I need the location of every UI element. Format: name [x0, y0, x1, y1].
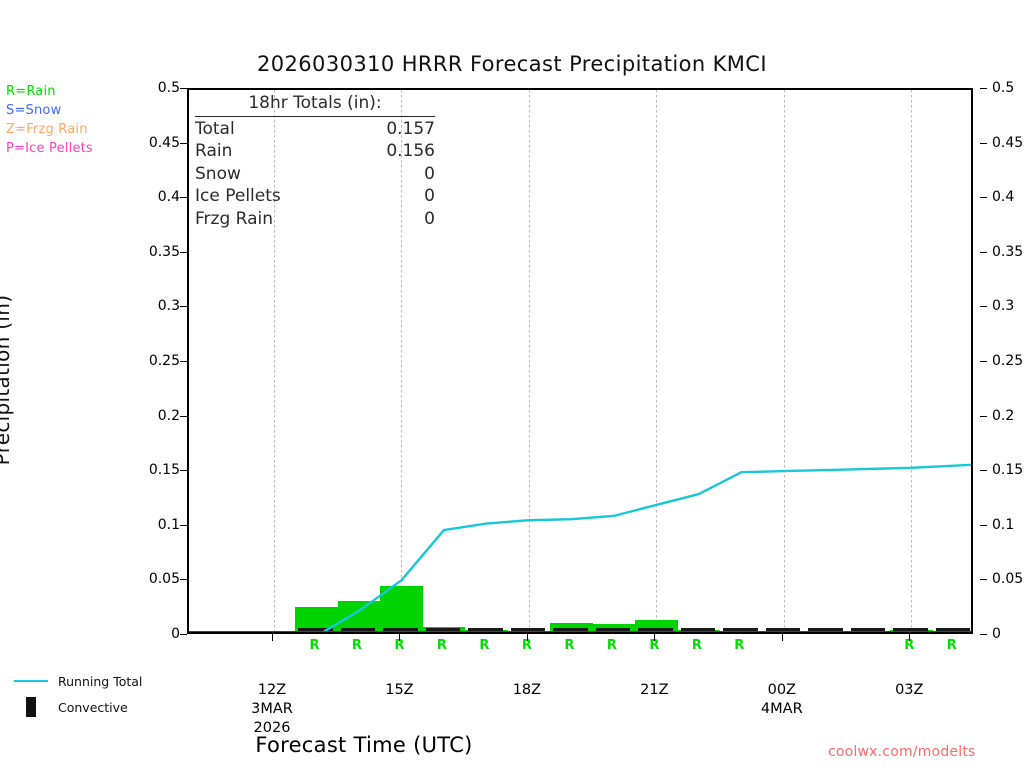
- y-tick-label: 0.4: [128, 189, 180, 205]
- y-tick-label: 0.2: [128, 408, 180, 424]
- y-tick-label: 0.05: [992, 571, 1023, 587]
- totals-label: Ice Pellets: [195, 185, 281, 208]
- y-tick-mark: [180, 143, 187, 144]
- y-tick-mark: [980, 197, 987, 198]
- totals-row: Ice Pellets0: [195, 185, 435, 208]
- x-tick-label: 00Z: [737, 682, 827, 698]
- y-axis-labels-left: 00.050.10.150.20.250.30.350.40.450.5: [120, 0, 180, 768]
- y-tick-label: 0.35: [128, 244, 180, 260]
- y-tick-label: 0.5: [992, 80, 1014, 96]
- totals-row: Snow0: [195, 163, 435, 186]
- x-tick-mark: [527, 634, 528, 641]
- totals-label: Rain: [195, 140, 232, 163]
- x-tick-label: 03Z: [864, 682, 954, 698]
- y-tick-mark: [980, 470, 987, 471]
- y-tick-label: 0.25: [128, 353, 180, 369]
- y-tick-label: 0.35: [992, 244, 1023, 260]
- y-tick-label: 0.05: [128, 571, 180, 587]
- watermark: coolwx.com/modelts: [828, 744, 976, 760]
- y-tick-mark: [180, 252, 187, 253]
- y-tick-mark: [980, 525, 987, 526]
- precip-type-marker: R: [944, 638, 960, 653]
- y-tick-label: 0.2: [992, 408, 1014, 424]
- precip-type-marker: R: [561, 638, 577, 653]
- x-axis-title-text: Forecast Time (UTC): [255, 733, 472, 757]
- y-tick-label: 0.4: [992, 189, 1014, 205]
- ptype-legend-item-1: S=Snow: [6, 101, 93, 120]
- totals-heading: 18hr Totals (in):: [195, 92, 435, 117]
- y-tick-mark: [180, 525, 187, 526]
- x-tick-label: 18Z: [482, 682, 572, 698]
- totals-value: 0: [424, 163, 435, 186]
- x-tick-mark: [654, 634, 655, 641]
- y-tick-label: 0.3: [128, 298, 180, 314]
- bar-swatch-icon: [26, 697, 36, 717]
- totals-summary-box: 18hr Totals (in): Total0.157Rain0.156Sno…: [195, 92, 435, 230]
- y-tick-label: 0.1: [128, 517, 180, 533]
- y-tick-label: 0: [128, 626, 180, 642]
- y-tick-label: 0.45: [992, 135, 1023, 151]
- precip-type-marker: R: [689, 638, 705, 653]
- precip-type-marker: R: [349, 638, 365, 653]
- totals-value: 0.156: [386, 140, 435, 163]
- x-tick-mark: [909, 634, 910, 641]
- precip-type-legend: R=RainS=SnowZ=Frzg RainP=Ice Pellets: [6, 82, 93, 158]
- y-tick-mark: [980, 416, 987, 417]
- totals-value: 0: [424, 185, 435, 208]
- y-tick-mark: [980, 361, 987, 362]
- y-tick-mark: [180, 88, 187, 89]
- y-tick-label: 0.15: [992, 462, 1023, 478]
- series-legend-label: Convective: [58, 700, 128, 715]
- series-legend-item: Convective: [14, 694, 142, 720]
- line-swatch-icon: [14, 680, 48, 682]
- y-tick-label: 0.5: [128, 80, 180, 96]
- y-tick-mark: [180, 306, 187, 307]
- chart-page: 2026030310 HRRR Forecast Precipitation K…: [0, 0, 1024, 768]
- y-tick-mark: [980, 634, 987, 635]
- x-tick-label: 12Z: [227, 682, 317, 698]
- zero-line: [189, 631, 971, 632]
- y-tick-mark: [980, 88, 987, 89]
- totals-label: Snow: [195, 163, 241, 186]
- precip-type-marker: R: [306, 638, 322, 653]
- y-tick-mark: [180, 416, 187, 417]
- x-tick-mark: [399, 634, 400, 641]
- totals-value: 0: [424, 208, 435, 231]
- y-tick-mark: [980, 306, 987, 307]
- y-axis-labels-right: 00.050.10.150.20.250.30.350.40.450.5: [980, 0, 1024, 768]
- totals-label: Total: [195, 118, 235, 141]
- y-tick-label: 0.15: [128, 462, 180, 478]
- precip-type-marker: R: [434, 638, 450, 653]
- y-tick-label: 0.1: [992, 517, 1014, 533]
- y-tick-label: 0.45: [128, 135, 180, 151]
- y-tick-mark: [180, 470, 187, 471]
- ptype-legend-item-2: Z=Frzg Rain: [6, 120, 93, 139]
- y-tick-mark: [980, 143, 987, 144]
- ptype-legend-item-0: R=Rain: [6, 82, 93, 101]
- y-tick-mark: [980, 579, 987, 580]
- totals-label: Frzg Rain: [195, 208, 273, 231]
- ptype-legend-item-3: P=Ice Pellets: [6, 139, 93, 158]
- y-tick-mark: [180, 197, 187, 198]
- y-tick-mark: [980, 252, 987, 253]
- x-tick-mark: [272, 634, 273, 641]
- y-tick-label: 0.25: [992, 353, 1023, 369]
- precip-type-marker: R: [731, 638, 747, 653]
- x-tick-date: 4MAR: [737, 701, 827, 717]
- y-axis-title: Precipitation (in): [0, 230, 14, 530]
- totals-row: Rain0.156: [195, 140, 435, 163]
- y-tick-mark: [180, 361, 187, 362]
- x-tick-label: 15Z: [354, 682, 444, 698]
- y-tick-label: 0.3: [992, 298, 1014, 314]
- series-legend-item: Running Total: [14, 668, 142, 694]
- y-tick-mark: [180, 579, 187, 580]
- totals-row: Total0.157: [195, 118, 435, 141]
- x-tick-mark: [782, 634, 783, 641]
- totals-row: Frzg Rain0: [195, 208, 435, 231]
- precip-type-marker: R: [476, 638, 492, 653]
- totals-rows: Total0.157Rain0.156Snow0Ice Pellets0Frzg…: [195, 118, 435, 231]
- y-tick-label: 0: [992, 626, 1001, 642]
- x-tick-label: 21Z: [609, 682, 699, 698]
- y-tick-mark: [180, 634, 187, 635]
- precip-type-marker: R: [604, 638, 620, 653]
- series-legend: Running TotalConvective: [14, 668, 142, 720]
- totals-value: 0.157: [386, 118, 435, 141]
- series-legend-label: Running Total: [58, 674, 142, 689]
- x-tick-date: 3MAR: [227, 701, 317, 717]
